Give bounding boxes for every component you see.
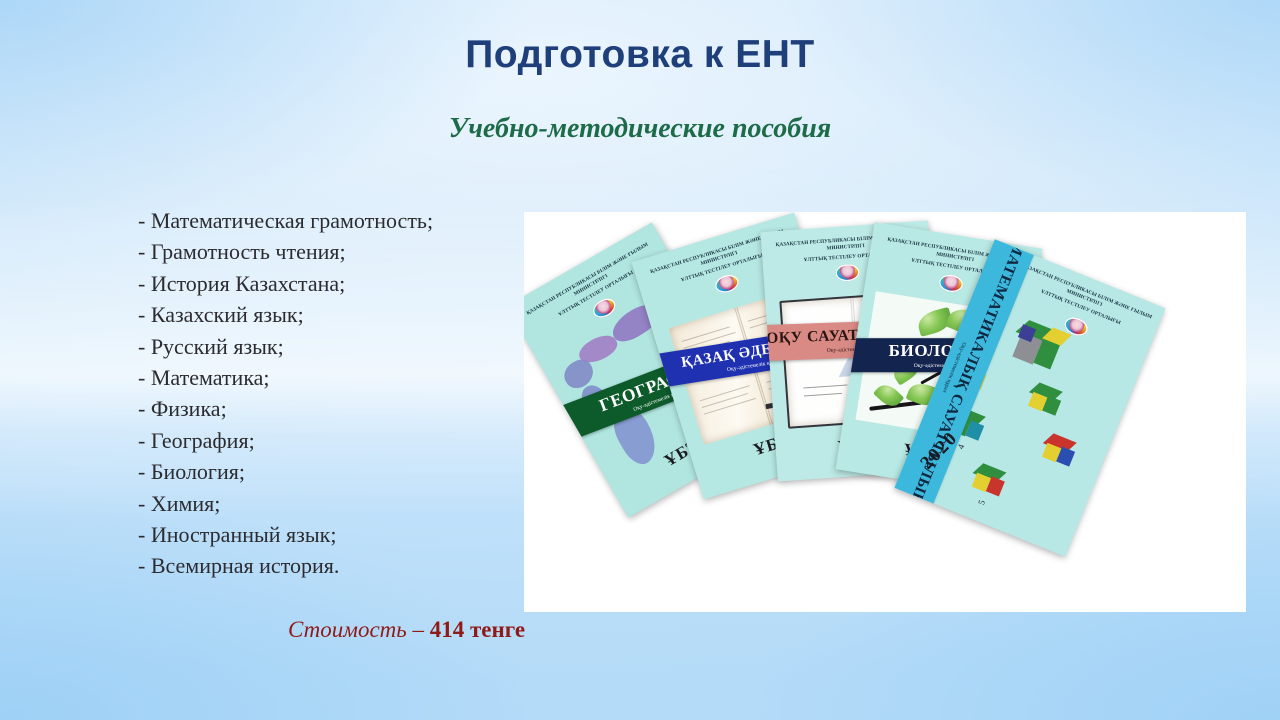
page-subtitle: Учебно-методические пособия — [0, 113, 1280, 145]
list-item: - Иностранный язык; — [138, 519, 518, 550]
slide-canvas: Подготовка к ЕНТ Учебно-методические пос… — [0, 0, 1280, 720]
price-label: Стоимость – — [288, 617, 424, 642]
cube-graphic — [970, 462, 1012, 501]
page-title: Подготовка к ЕНТ — [0, 33, 1280, 77]
cube-graphic — [1026, 381, 1068, 420]
list-item: - Биология; — [138, 456, 518, 487]
list-item: - Физика; — [138, 393, 518, 424]
list-item: - Математика; — [138, 362, 518, 393]
list-item: - Химия; — [138, 488, 518, 519]
diagram-line — [804, 393, 842, 397]
publisher-ministry-line: ҚАЗАҚСТАН РЕСПУБЛИКАСЫ БІЛІМ ЖӘНЕ ҒЫЛЫМ … — [1013, 261, 1157, 330]
list-item: - Математическая грамотность; — [138, 205, 518, 236]
diagram-line — [803, 384, 847, 388]
list-item: - История Казахстана; — [138, 268, 518, 299]
list-item: - Грамотность чтения; — [138, 236, 518, 267]
cube-graphic — [1040, 432, 1082, 471]
price-amount: 414 тенге — [430, 617, 525, 642]
testing-center-logo-icon — [938, 273, 964, 294]
testing-center-logo-icon — [835, 263, 860, 282]
cube-graphic — [1008, 319, 1068, 379]
list-item: - Русский язык; — [138, 331, 518, 362]
testing-center-logo-icon — [713, 272, 741, 295]
list-item: - Всемирная история. — [138, 550, 518, 581]
price-text: Стоимость – 414 тенге — [288, 617, 525, 643]
cube-number-label: 5 — [976, 499, 987, 507]
list-item: - География; — [138, 425, 518, 456]
text-line — [704, 398, 756, 415]
text-line — [702, 393, 748, 408]
list-item: - Казахский язык; — [138, 299, 518, 330]
book-photo-panel: ҚАЗАҚСТАН РЕСПУБЛИКАСЫ БІЛІМ ЖӘНЕ ҒЫЛЫМ … — [524, 212, 1246, 612]
subject-list: - Математическая грамотность; - Грамотно… — [138, 205, 518, 582]
